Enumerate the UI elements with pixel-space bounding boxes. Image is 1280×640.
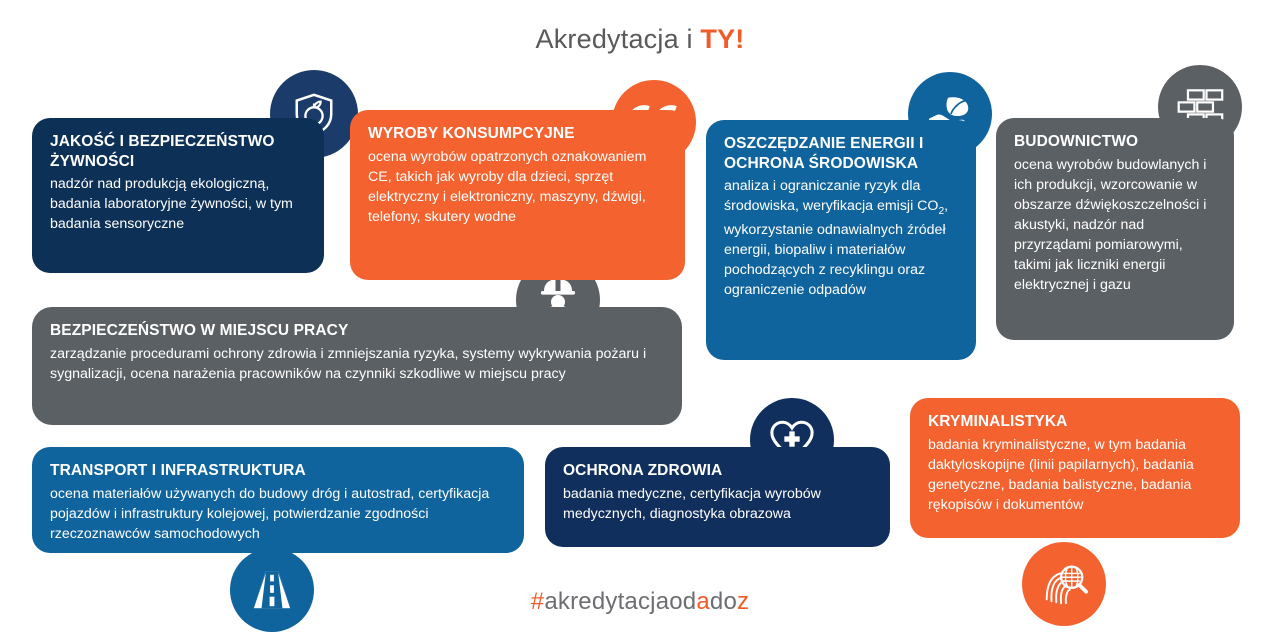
- card-energy-environment[interactable]: OSZCZĘDZANIE ENERGII I OCHRONA ŚRODOWISK…: [706, 120, 976, 360]
- card-health-protection[interactable]: OCHRONA ZDROWIA badania medyczne, certyf…: [545, 447, 890, 547]
- card-body: badania medyczne, certyfikacja wyrobów m…: [563, 484, 872, 524]
- card-title: JAKOŚĆ I BEZPIECZEŃSTWO ŻYWNOŚCI: [50, 132, 306, 171]
- card-body: zarządzanie procedurami ochrony zdrowia …: [50, 344, 664, 384]
- card-body: ocena wyrobów opatrzonych oznakowaniem C…: [368, 147, 667, 228]
- card-body: ocena materiałów używanych do budowy dró…: [50, 484, 506, 544]
- card-workplace-safety[interactable]: BEZPIECZEŃSTWO W MIEJSCU PRACY zarządzan…: [32, 307, 682, 425]
- card-title: TRANSPORT I INFRASTRUKTURA: [50, 461, 506, 481]
- card-transport-infrastructure[interactable]: TRANSPORT I INFRASTRUKTURA ocena materia…: [32, 447, 524, 553]
- card-body: ocena wyrobów budowlanych i ich produkcj…: [1014, 155, 1216, 296]
- fingerprint-magnifier-icon: [1022, 542, 1106, 626]
- page-title-accent: TY!: [700, 24, 744, 54]
- infographic-canvas: Akredytacja i TY!: [0, 0, 1280, 640]
- card-title: OSZCZĘDZANIE ENERGII I OCHRONA ŚRODOWISK…: [724, 134, 958, 173]
- card-forensics[interactable]: KRYMINALISTYKA badania kryminalistyczne,…: [910, 398, 1240, 538]
- card-title: OCHRONA ZDROWIA: [563, 461, 872, 481]
- card-body: nadzór nad produkcją ekologiczną, badani…: [50, 174, 306, 234]
- hashtag-seg-z: z: [737, 588, 749, 615]
- hashtag-hash: #: [531, 588, 545, 615]
- card-title: WYROBY KONSUMPCYJNE: [368, 124, 667, 144]
- card-title: BUDOWNICTWO: [1014, 132, 1216, 152]
- card-construction[interactable]: BUDOWNICTWO ocena wyrobów budowlanych i …: [996, 118, 1234, 340]
- card-body: analiza i ograniczanie ryzyk dla środowi…: [724, 176, 958, 300]
- hashtag-seg2: do: [710, 588, 737, 615]
- hashtag-seg-a: a: [696, 588, 710, 615]
- card-body-pre: analiza i ograniczanie ryzyk dla środowi…: [724, 178, 938, 214]
- card-food-quality[interactable]: JAKOŚĆ I BEZPIECZEŃSTWO ŻYWNOŚCI nadzór …: [32, 118, 324, 273]
- card-title: KRYMINALISTYKA: [928, 412, 1222, 432]
- hashtag-seg1: akredytacjaod: [544, 588, 696, 615]
- page-title: Akredytacja i TY!: [0, 24, 1280, 55]
- page-title-main: Akredytacja i: [536, 24, 701, 54]
- road-icon: [230, 548, 314, 632]
- card-consumer-products[interactable]: WYROBY KONSUMPCYJNE ocena wyrobów opatrz…: [350, 110, 685, 280]
- card-body: badania kryminalistyczne, w tym badania …: [928, 435, 1222, 516]
- card-title: BEZPIECZEŃSTWO W MIEJSCU PRACY: [50, 321, 664, 341]
